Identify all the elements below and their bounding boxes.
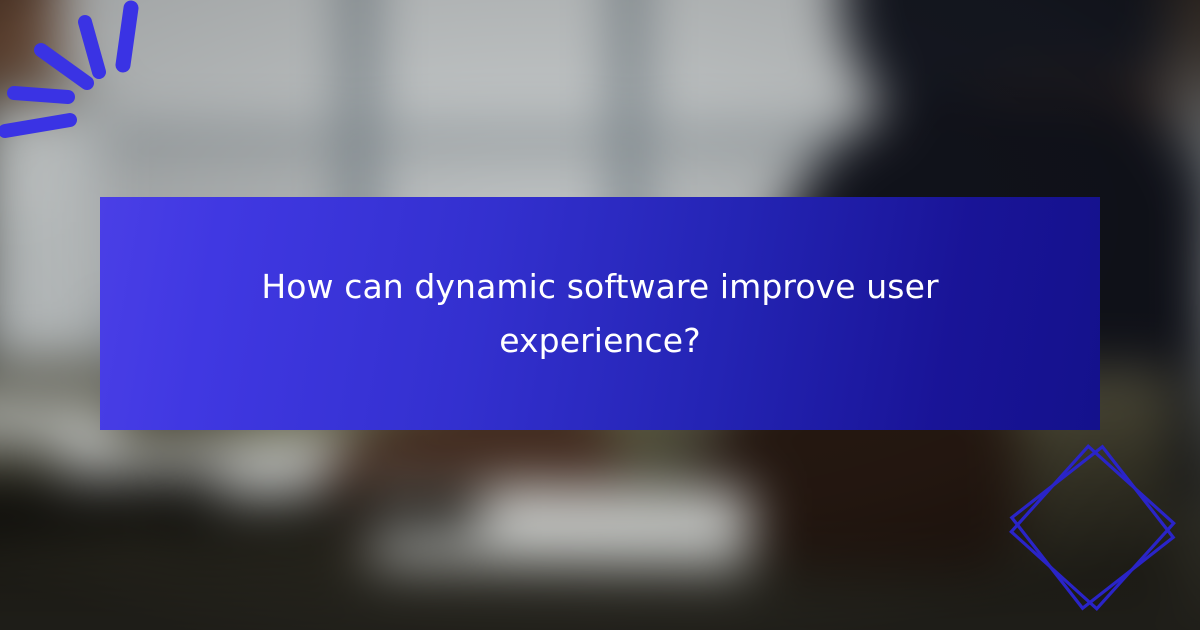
window-pane: [370, 0, 620, 135]
title-banner: How can dynamic software improve user ex…: [100, 197, 1100, 430]
burst-rays-icon: [0, 0, 200, 170]
banner-image: How can dynamic software improve user ex…: [0, 0, 1200, 630]
banner-title-text: How can dynamic software improve user ex…: [250, 260, 950, 367]
rotated-squares-icon: [975, 420, 1200, 630]
burst-sparkle-decoration: [0, 0, 200, 170]
rotated-squares-decoration: [975, 420, 1200, 630]
